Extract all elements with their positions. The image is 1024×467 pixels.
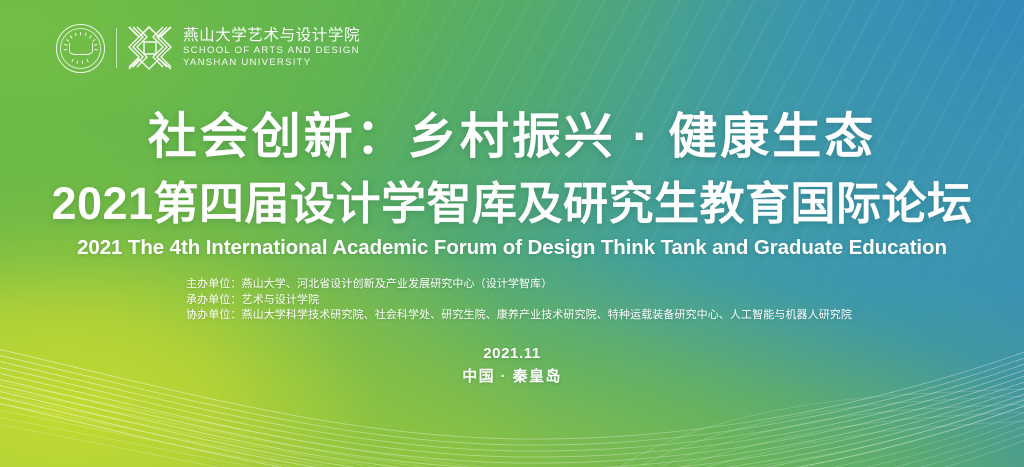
organizer-line-undertaker: 承办单位：艺术与设计学院 [186,293,852,308]
logo-chinese-name: 燕山大学艺术与设计学院 [183,27,360,45]
event-location: 中国 · 秦皇岛 [0,365,1024,388]
event-details-block: 2021.11 中国 · 秦皇岛 [0,342,1024,389]
logo-divider [116,28,117,68]
conference-poster: 燕山大学艺术与设计学院 SCHOOL OF ARTS AND DESIGN YA… [0,0,1024,467]
university-seal-icon [56,24,105,73]
logo-text-block: 燕山大学艺术与设计学院 SCHOOL OF ARTS AND DESIGN YA… [183,27,360,69]
event-date: 2021.11 [0,342,1024,365]
school-logo-lockup: 燕山大学艺术与设计学院 SCHOOL OF ARTS AND DESIGN YA… [56,22,360,74]
logo-english-line-2: YANSHAN UNIVERSITY [183,57,360,69]
poster-main-title: 社会创新：乡村振兴 · 健康生态 [0,113,1024,162]
poster-subtitle: 2021第四届设计学智库及研究生教育国际论坛 [0,180,1024,228]
organizer-line-host: 主办单位：燕山大学、河北省设计创新及产业发展研究中心（设计学智库） [186,277,852,292]
geometric-square-mark-icon [128,26,172,70]
poster-english-title: 2021 The 4th International Academic Foru… [0,236,1024,261]
organizer-line-coorganizers: 协办单位：燕山大学科学技术研究院、社会科学处、研究生院、康养产业技术研究院、特种… [186,308,852,323]
logo-english-line-1: SCHOOL OF ARTS AND DESIGN [183,45,360,57]
organizer-block: 主办单位：燕山大学、河北省设计创新及产业发展研究中心（设计学智库） 承办单位：艺… [186,277,852,323]
seal-open-book-icon [69,42,93,55]
